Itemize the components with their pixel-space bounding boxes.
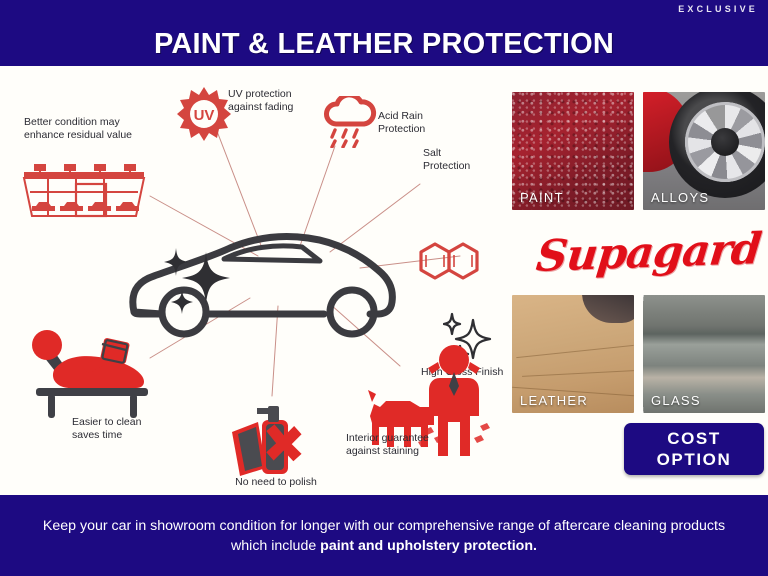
tile-alloys[interactable]: ALLOYS: [643, 92, 765, 210]
spray-bottle-cross-icon: [228, 406, 314, 478]
molecule-icon: [418, 240, 484, 288]
callout-label-uv: UV protection against fading: [228, 88, 320, 113]
tile-caption-alloys: ALLOYS: [651, 190, 709, 205]
callout-label-interior-stain: Interior guarantee against staining: [346, 432, 476, 457]
tile-caption-leather: LEATHER: [520, 393, 588, 408]
footer-text: Keep your car in showroom condition for …: [24, 516, 744, 556]
cost-option-line2: OPTION: [657, 449, 732, 470]
seat-seam: [522, 370, 634, 377]
slide-root: EXCLUSIVE PAINT & LEATHER PROTECTION: [0, 0, 768, 576]
tile-glass[interactable]: GLASS: [643, 295, 765, 413]
page-title: PAINT & LEATHER PROTECTION: [0, 22, 768, 66]
tile-leather[interactable]: LEATHER: [512, 295, 634, 413]
rain-cloud-icon: [322, 96, 378, 148]
uv-icon-text: UV: [194, 107, 215, 124]
callout-label-residual-value: Better condition may enhance residual va…: [24, 116, 174, 141]
callout-label-easy-clean: Easier to clean saves time: [72, 416, 182, 441]
cost-option-line1: COST: [667, 428, 721, 449]
diagram-canvas: Better condition may enhance residual va…: [0, 66, 768, 495]
seat-shadow: [582, 295, 634, 323]
tile-paint[interactable]: PAINT: [512, 92, 634, 210]
supagard-logo: Supagard: [534, 220, 762, 286]
callout-label-salt: Salt Protection: [423, 147, 503, 172]
footer-text-bold: paint and upholstery protection.: [320, 538, 537, 554]
hub-shape: [711, 128, 739, 156]
exclusive-eyebrow: EXCLUSIVE: [678, 4, 758, 14]
uv-sun-icon: UV: [177, 87, 231, 141]
header-top-strip: [0, 0, 768, 22]
tile-caption-glass: GLASS: [651, 393, 701, 408]
callout-label-no-polish: No need to polish: [216, 476, 336, 489]
footer-banner: Keep your car in showroom condition for …: [0, 495, 768, 576]
seat-seam: [516, 345, 633, 358]
sparkle-icon: [162, 246, 232, 318]
tile-caption-paint: PAINT: [520, 190, 564, 205]
car-side-icon: [112, 214, 412, 344]
cost-option-button[interactable]: COST OPTION: [624, 423, 764, 475]
relaxing-person-icon: [18, 328, 178, 418]
callout-label-acid-rain: Acid Rain Protection: [378, 110, 468, 135]
supagard-wordmark: Supagard: [533, 224, 762, 282]
showroom-icon: [18, 162, 150, 224]
